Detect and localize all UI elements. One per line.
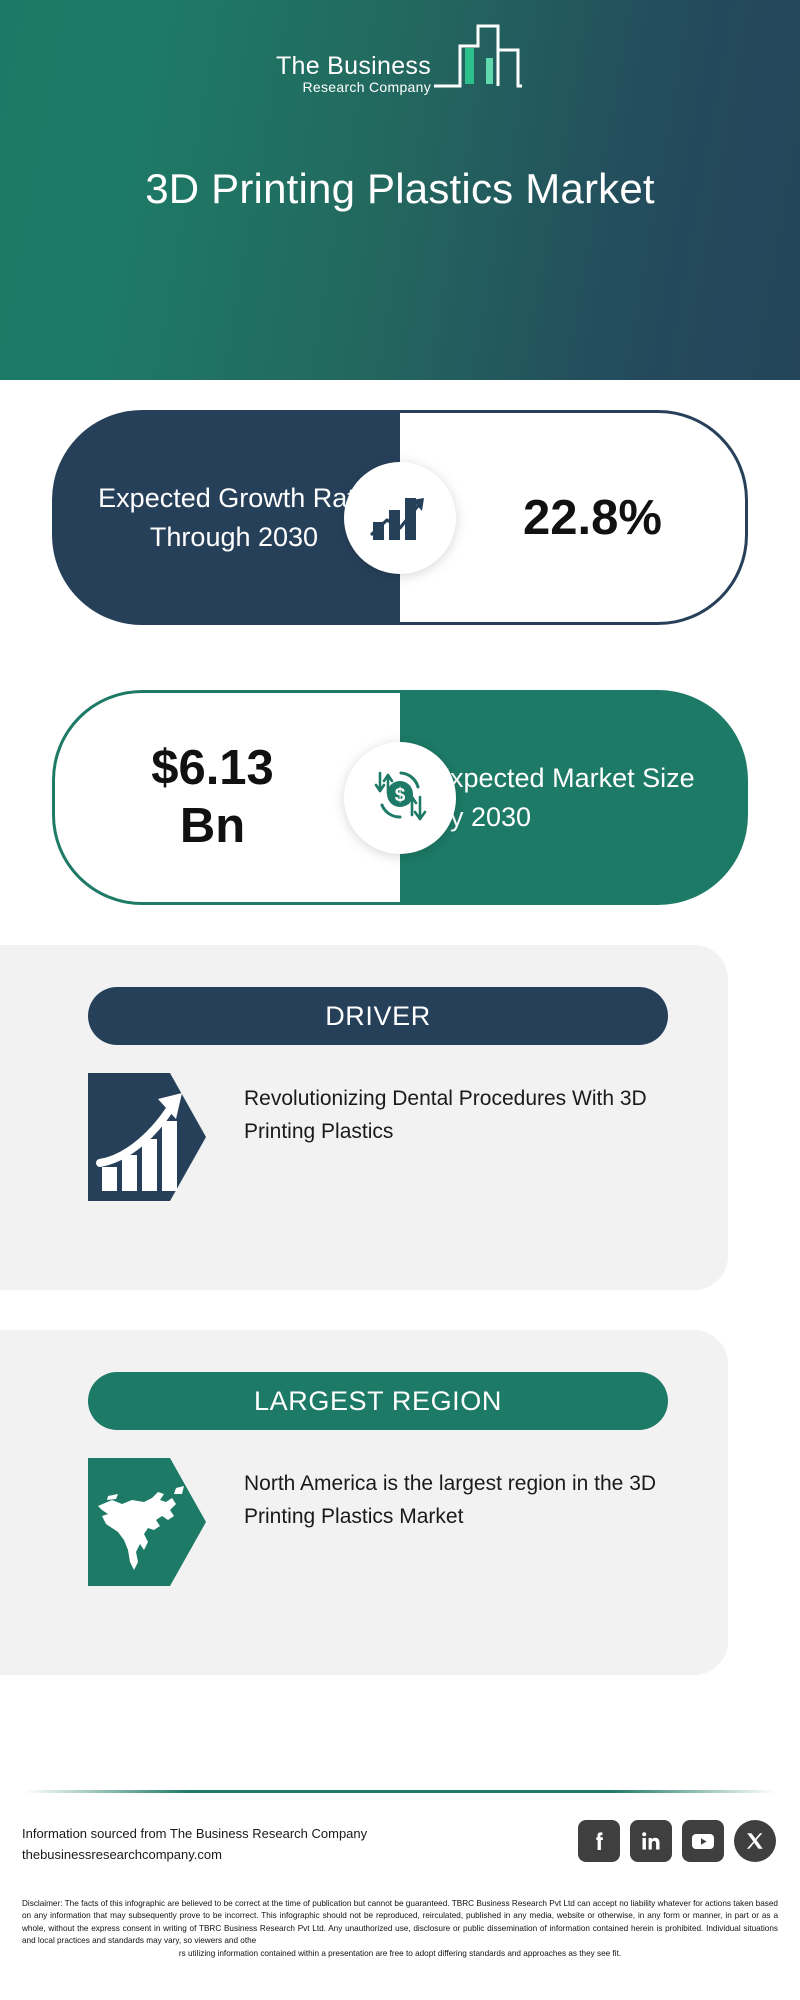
stat-value: $6.13 Bn xyxy=(151,740,304,856)
disclaimer-last-line: rs utilizing information contained withi… xyxy=(22,1948,778,1960)
footer-website-link[interactable]: thebusinessresearchcompany.com xyxy=(22,1844,367,1865)
linkedin-icon[interactable] xyxy=(630,1820,672,1862)
disclaimer-main: Disclaimer: The facts of this infographi… xyxy=(22,1899,778,1945)
region-body: North America is the largest region in t… xyxy=(88,1458,664,1586)
driver-heading: DRIVER xyxy=(325,1001,431,1032)
footer-source: Information sourced from The Business Re… xyxy=(22,1823,367,1865)
logo-primary-text: The Business xyxy=(276,53,431,79)
stat-card-market-size: $6.13 Bn Expected Market Size By 2030 $ xyxy=(52,690,748,905)
social-links xyxy=(578,1820,776,1862)
youtube-icon[interactable] xyxy=(682,1820,724,1862)
svg-text:$: $ xyxy=(395,785,406,806)
facebook-icon[interactable] xyxy=(578,1820,620,1862)
footer-source-line1: Information sourced from The Business Re… xyxy=(22,1823,367,1844)
bar-chart-growth-icon xyxy=(344,462,456,574)
brand-logo: The Business Research Company xyxy=(0,22,800,102)
stat-card-growth-rate: Expected Growth Rate Through 2030 22.8% xyxy=(52,410,748,625)
logo-bar-chart-icon xyxy=(432,22,524,99)
growth-bars-arrow-icon xyxy=(88,1073,206,1201)
driver-panel: DRIVER Revolutionizing Dental Procedures… xyxy=(0,945,728,1290)
stat-value-line2: Bn xyxy=(180,799,245,853)
disclaimer-text: Disclaimer: The facts of this infographi… xyxy=(22,1898,778,1960)
dollar-cycle-icon: $ xyxy=(344,742,456,854)
driver-text: Revolutionizing Dental Procedures With 3… xyxy=(244,1073,664,1148)
page-title: 3D Printing Plastics Market xyxy=(0,165,800,213)
header-banner: The Business Research Company 3D Printin… xyxy=(0,0,800,380)
region-heading: LARGEST REGION xyxy=(254,1386,502,1417)
logo-secondary-text: Research Company xyxy=(303,79,432,96)
stat-value-line1: $6.13 xyxy=(151,741,274,795)
stat-value: 22.8% xyxy=(483,490,662,546)
region-text: North America is the largest region in t… xyxy=(244,1458,664,1533)
x-twitter-icon[interactable] xyxy=(734,1820,776,1862)
region-heading-pill: LARGEST REGION xyxy=(88,1372,668,1430)
driver-heading-pill: DRIVER xyxy=(88,987,668,1045)
north-america-map-icon xyxy=(88,1458,206,1586)
driver-body: Revolutionizing Dental Procedures With 3… xyxy=(88,1073,664,1201)
infographic-page: The Business Research Company 3D Printin… xyxy=(0,0,800,2000)
largest-region-panel: LARGEST REGION North America is the larg… xyxy=(0,1330,728,1675)
footer-divider xyxy=(24,1790,776,1793)
